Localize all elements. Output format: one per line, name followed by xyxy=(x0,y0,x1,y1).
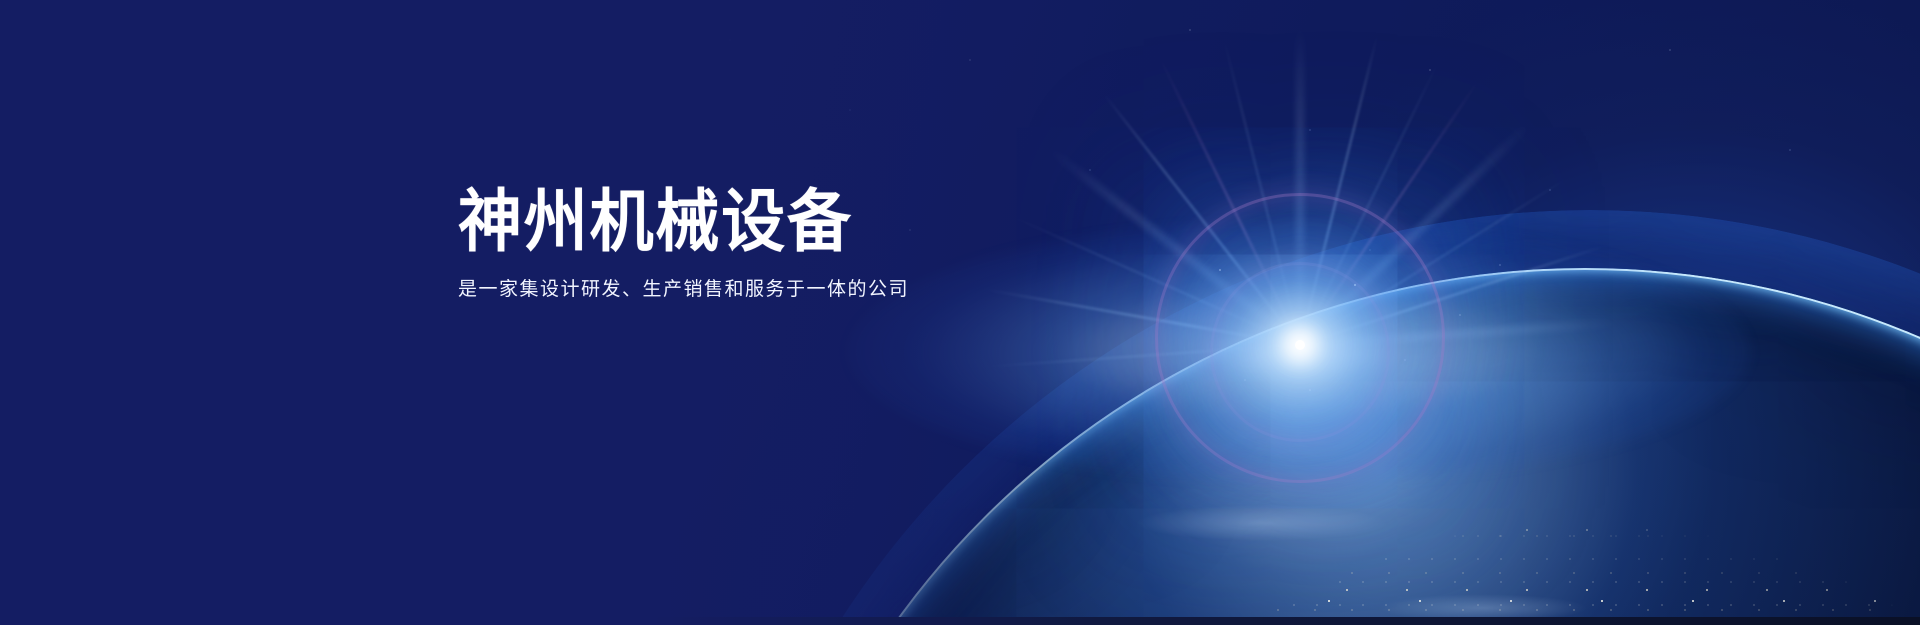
hero-banner: 神州机械设备 是一家集设计研发、生产销售和服务于一体的公司 xyxy=(0,0,1920,625)
globe-container xyxy=(0,0,1920,625)
banner-text-block: 神州机械设备 是一家集设计研发、生产销售和服务于一体的公司 xyxy=(458,188,909,304)
banner-subline: 是一家集设计研发、生产销售和服务于一体的公司 xyxy=(458,275,909,304)
space-scene xyxy=(0,0,1920,625)
banner-headline: 神州机械设备 xyxy=(458,188,882,257)
sun-core xyxy=(1295,340,1305,350)
